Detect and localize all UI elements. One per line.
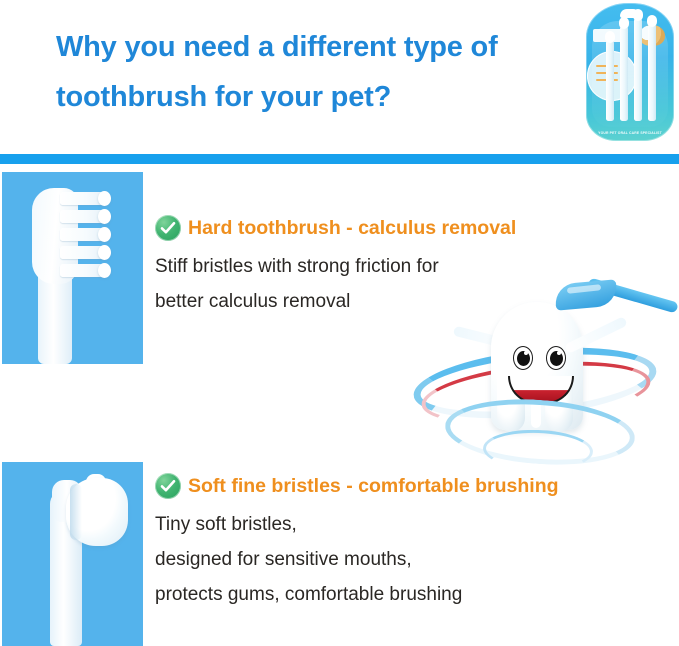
green-check-icon [155,473,181,499]
feature-photo-soft-toothbrush [2,462,143,646]
feature-body-line: designed for sensitive mouths, [155,542,559,577]
green-check-icon [155,215,181,241]
brush-soft-dome-head [66,478,128,546]
header-banner: Why you need a different type of toothbr… [0,0,679,150]
package-brush-4 [648,23,656,121]
page-title-line-2: toothbrush for your pet? [56,72,576,122]
package-blister-card: Your pet oral care specialist [586,3,674,141]
feature-headline-hard: Hard toothbrush - calculus removal [155,214,516,244]
package-brush-2 [620,25,628,121]
mascot-eye-right [546,346,566,370]
smiling-tooth-mascot [403,272,679,477]
blue-divider-bar [0,154,679,164]
soft-toothbrush-illustration [22,468,132,646]
package-caption: Your pet oral care specialist [586,131,674,136]
package-brush-3 [634,17,642,121]
feature-body-line: Tiny soft bristles, [155,507,559,542]
mascot-eye-left [513,346,533,370]
feature-text-soft: Soft fine bristles - comfortable brushin… [155,472,559,612]
feature-headline-text: Soft fine bristles - comfortable brushin… [188,472,559,500]
page-title: Why you need a different type of toothbr… [56,22,576,122]
feature-headline-soft: Soft fine bristles - comfortable brushin… [155,472,559,502]
package-brush-1 [606,39,614,121]
blue-toothbrush-icon [555,276,679,332]
hard-toothbrush-illustration [20,186,124,364]
feature-body-soft: Tiny soft bristles, designed for sensiti… [155,507,559,612]
feature-headline-text: Hard toothbrush - calculus removal [188,214,516,242]
feature-row-soft: Soft fine bristles - comfortable brushin… [0,462,679,646]
feature-photo-hard-toothbrush [2,172,143,364]
product-package-image: Your pet oral care specialist [586,3,674,141]
feature-body-line: protects gums, comfortable brushing [155,577,559,612]
page-title-line-1: Why you need a different type of [56,22,576,72]
